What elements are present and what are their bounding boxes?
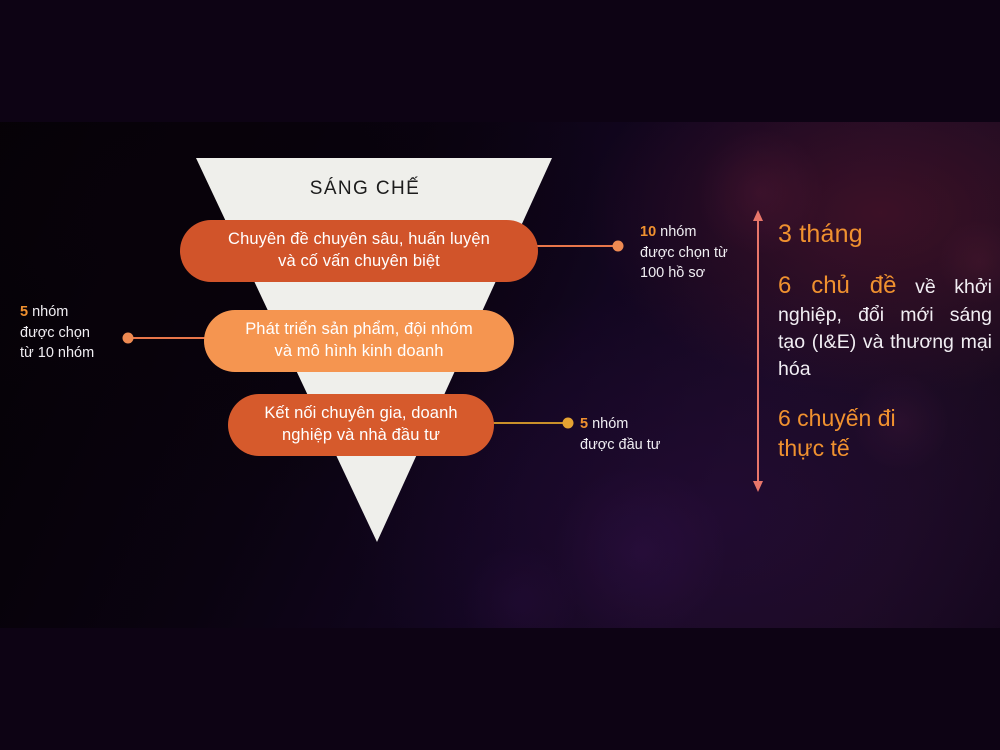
annotation-left: 5 nhóm được chọn từ 10 nhóm [20, 302, 150, 364]
funnel-stage-1[interactable]: Chuyên đề chuyên sâu, huấn luyện và cố v… [180, 220, 538, 282]
program-duration: 3 tháng [778, 220, 992, 249]
annotation-left-line2: được chọn [20, 325, 90, 341]
slide-stage: SÁNG CHẾ Chuyên đề chuyên sâu, huấn luyệ… [0, 0, 1000, 750]
slide-canvas: SÁNG CHẾ Chuyên đề chuyên sâu, huấn luyệ… [0, 122, 1000, 628]
funnel-stage-3-line2: nghiệp và nhà đầu tư [282, 426, 440, 444]
program-field-trips-line1: 6 chuyến đi [778, 405, 896, 431]
program-field-trips: 6 chuyến đi thực tế [778, 403, 992, 464]
funnel-stage-2-line2: và mô hình kinh doanh [274, 342, 443, 360]
funnel-stage-2-line1: Phát triển sản phẩm, đội nhóm [245, 320, 473, 338]
funnel-stage-1-line2: và cố vấn chuyên biệt [278, 252, 440, 270]
program-topics: 6 chủ đề về khởi nghiệp, đổi mới sáng tạ… [778, 269, 992, 383]
funnel-stage-2-text: Phát triển sản phẩm, đội nhóm và mô hình… [245, 319, 473, 363]
annotation-left-unit: nhóm [32, 304, 68, 320]
program-field-trips-line2: thực tế [778, 435, 850, 461]
annotation-top-right-number: 10 [640, 224, 656, 240]
annotation-left-number: 5 [20, 304, 28, 320]
letterbox-top [0, 0, 1000, 122]
funnel-stage-2[interactable]: Phát triển sản phẩm, đội nhóm và mô hình… [204, 310, 514, 372]
annotation-top-right: 10 nhóm được chọn từ 100 hồ sơ [640, 222, 760, 284]
annotation-left-line3: từ 10 nhóm [20, 345, 94, 361]
annotation-top-right-line2: được chọn từ [640, 245, 728, 261]
funnel-stage-3[interactable]: Kết nối chuyên gia, doanh nghiệp và nhà … [228, 394, 494, 456]
funnel-stage-3-text: Kết nối chuyên gia, doanh nghiệp và nhà … [264, 403, 457, 447]
connector-dot-stage1 [613, 241, 624, 252]
funnel-stage-3-line1: Kết nối chuyên gia, doanh [264, 404, 457, 422]
range-arrow-down-icon [753, 481, 763, 492]
annotation-bottom-right-unit: nhóm [592, 416, 628, 432]
annotation-bottom-right-number: 5 [580, 416, 588, 432]
annotation-top-right-unit: nhóm [660, 224, 696, 240]
program-topics-highlight: 6 chủ đề [778, 272, 896, 299]
annotation-top-right-line3: 100 hồ sơ [640, 265, 705, 281]
funnel-stage-1-text: Chuyên đề chuyên sâu, huấn luyện và cố v… [228, 229, 490, 273]
annotation-bottom-right-line2: được đầu tư [580, 437, 661, 453]
funnel-stage-1-line1: Chuyên đề chuyên sâu, huấn luyện [228, 230, 490, 248]
right-summary-column: 3 tháng 6 chủ đề về khởi nghiệp, đổi mới… [778, 220, 992, 464]
connector-dot-stage3 [563, 418, 574, 429]
funnel-title: SÁNG CHẾ [240, 178, 490, 200]
letterbox-bottom [0, 628, 1000, 750]
annotation-bottom-right: 5 nhóm được đầu tư [580, 414, 710, 455]
range-arrow-up-icon [753, 210, 763, 221]
